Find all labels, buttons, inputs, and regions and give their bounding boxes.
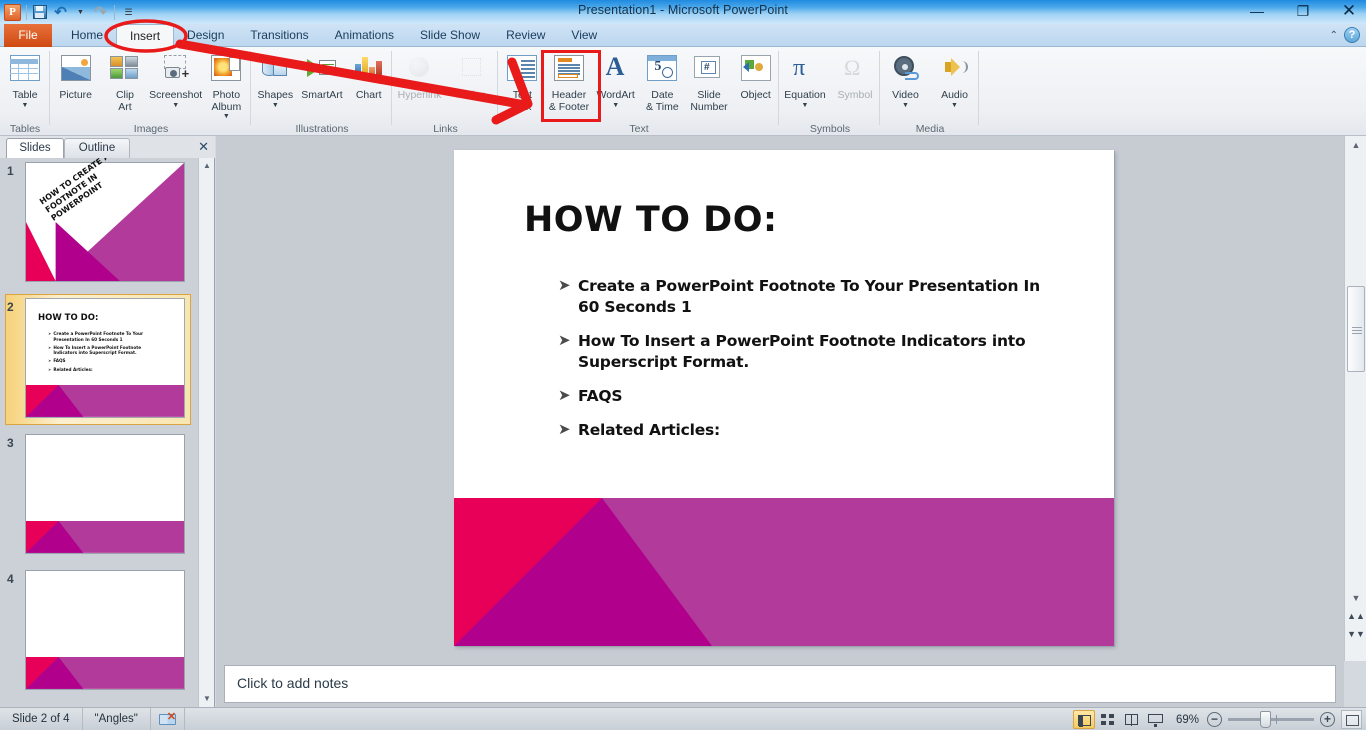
slide-decorative-triangles [454,498,1114,646]
ribbon-button-label: Equation [784,90,825,102]
slide-bullet: ➤FAQS [558,386,1058,407]
symbol-icon: Ω [839,52,871,87]
powerpoint-window: P ↶ ▼ ↷ ☰ Presentation1 - Microsoft Powe… [0,0,1366,730]
tab-design[interactable]: Design [174,24,237,47]
ribbon-group-label: Symbols [780,123,880,135]
ribbon-group-label: Images [51,123,251,135]
zoom-100-tick [1276,715,1277,724]
slide-thumbnail-1[interactable]: 1HOW TO CREATE A FOOTNOTE IN POWERPOINT [0,158,198,294]
ribbon-group-separator [497,51,498,125]
help-icon[interactable]: ? [1344,27,1360,43]
chevron-down-icon[interactable]: ▼ [802,102,809,110]
tab-animations[interactable]: Animations [322,24,407,47]
collapse-ribbon-icon[interactable]: ⌃ [1330,30,1338,41]
slide-title[interactable]: HOW TO DO: [524,200,777,240]
ribbon-group-links: HyperlinkActionLinks [393,47,498,136]
chevron-down-icon[interactable]: ▼ [172,102,179,110]
ribbon-button-label: Shapes [258,90,294,102]
thumbnail-number: 4 [7,572,14,586]
video-icon [890,52,922,87]
previous-slide-button[interactable]: ▲▲ [1345,607,1366,625]
ribbon-group-label: Media [881,123,979,135]
zoom-in-button[interactable]: + [1320,712,1335,727]
chevron-down-icon[interactable]: ▼ [612,102,619,110]
ribbon-button-label: SmartArt [301,90,342,102]
ribbon-group-symbols: πEquation▼ΩSymbolSymbols [780,47,880,136]
zoom-track[interactable] [1228,718,1314,721]
ribbon-button-audio[interactable]: Audio▼ [930,49,979,110]
ribbon-button-label: Chart [356,90,382,102]
tab-outline[interactable]: Outline [64,138,130,158]
next-slide-button[interactable]: ▼▼ [1345,625,1366,643]
ribbon-button-hyperlink: Hyperlink [394,49,446,102]
ribbon-button-chart[interactable]: Chart [345,49,392,102]
thumbnail-title-text: HOW TO DO: [38,313,98,323]
pane-tab-strip: Slides Outline ✕ [0,136,215,158]
slide-bullet-text: How To Insert a PowerPoint Footnote Indi… [578,331,1058,373]
scrollbar-thumb[interactable] [1347,286,1365,372]
bullet-arrow-icon: ➤ [558,386,578,407]
close-button[interactable]: ✕ [1336,2,1362,20]
ribbon-group-label: Illustrations [252,123,392,135]
ribbon-button-label: Symbol [837,90,872,102]
zoom-slider[interactable]: − + [1207,712,1341,727]
tab-slides[interactable]: Slides [6,138,64,158]
restore-button[interactable]: ❐ [1290,2,1316,20]
ribbon-button-label: Video [892,90,919,102]
ribbon-button-photo-album[interactable]: Photo Album▼ [202,49,251,121]
tab-view[interactable]: View [558,24,610,47]
ribbon-button-label: WordArt [597,90,635,102]
scroll-down-icon[interactable]: ▼ [1345,589,1366,607]
thumbnail-art [26,657,184,689]
ribbon-group-separator [879,51,880,125]
slide-show-view-button[interactable] [1145,710,1167,729]
ribbon-button-label: Photo Album [211,90,241,113]
ribbon-button-label: Action [457,90,486,102]
slide-bullet-text: FAQS [578,386,622,407]
ribbon-button-text-box[interactable]: AText Box [499,49,546,113]
slide-work-area: HOW TO DO: ➤Create a PowerPoint Footnote… [216,136,1344,661]
shapes-icon [259,52,291,87]
date-time-icon: 5 [646,52,678,87]
tab-review[interactable]: Review [493,24,558,47]
slide-bullet: ➤Create a PowerPoint Footnote To Your Pr… [558,276,1058,318]
tab-slide-show[interactable]: Slide Show [407,24,493,47]
ribbon-group-separator [49,51,50,125]
slide-canvas[interactable]: HOW TO DO: ➤Create a PowerPoint Footnote… [454,150,1114,646]
chevron-down-icon[interactable]: ▼ [902,102,909,110]
ribbon-group-separator [250,51,251,125]
thumbnail-number: 2 [7,300,14,314]
slide-thumbnail-4[interactable]: 4 [0,566,198,702]
theme-name[interactable]: "Angles" [83,708,151,730]
chevron-down-icon[interactable]: ▼ [22,102,29,110]
ribbon-tab-strip: File HomeInsertDesignTransitionsAnimatio… [0,24,1366,47]
ribbon-button-smartart[interactable]: SmartArt [299,49,346,102]
screenshot-icon: + [160,52,192,87]
ribbon-button-label: Object [741,90,771,102]
thumbnail-slide-preview [25,434,185,554]
audio-icon [939,52,971,87]
slide-bullet: ➤How To Insert a PowerPoint Footnote Ind… [558,331,1058,373]
slide-thumbnail-list[interactable]: 1HOW TO CREATE A FOOTNOTE IN POWERPOINT2… [0,158,198,707]
photo-album-icon [210,52,242,87]
ribbon-help-controls: ⌃ ? [1330,27,1360,43]
tab-transitions[interactable]: Transitions [237,24,321,47]
ribbon-group-text: AText BoxHeader & FooterAWordArt▼5Date &… [499,47,779,136]
action-icon [456,52,488,87]
slide-bullet-text: Create a PowerPoint Footnote To Your Pre… [578,276,1058,318]
zoom-level-label[interactable]: 69% [1168,714,1207,726]
ribbon-button-label: Hyperlink [398,90,442,102]
slide-bullet: ➤Related Articles: [558,420,1058,441]
zoom-out-button[interactable]: − [1207,712,1222,727]
thumbnail-slide-preview: HOW TO DO:➤Create a PowerPoint Footnote … [25,298,185,418]
header-footer-icon [553,52,585,87]
ribbon-button-screenshot[interactable]: +Screenshot▼ [150,49,202,110]
ribbon-group-label: Text [499,123,779,135]
spellcheck-icon[interactable]: ✕ [151,708,185,730]
ribbon-group-label: Tables [0,123,50,135]
chevron-down-icon[interactable]: ▼ [951,102,958,110]
ribbon-group-media: Video▼Audio▼Media [881,47,979,136]
ribbon-button-clip-art[interactable]: Clip Art [100,49,149,113]
ribbon-button-picture[interactable]: Picture [51,49,100,102]
ribbon-button-wordart[interactable]: AWordArt▼ [592,49,639,110]
slide-thumbnail-3[interactable]: 3 [0,430,198,566]
thumbnail-scroll-up-icon[interactable]: ▲ [199,158,215,174]
ribbon-group-illustrations: Shapes▼SmartArtChartIllustrations [252,47,392,136]
ribbon-button-symbol: ΩSymbol [830,49,880,102]
normal-view-button[interactable] [1073,710,1095,729]
ribbon-group-separator [978,51,979,125]
bullet-arrow-icon: ➤ [558,331,578,373]
thumbnail-slide-preview: HOW TO CREATE A FOOTNOTE IN POWERPOINT [25,162,185,282]
ribbon-group-separator [778,51,779,125]
chevron-down-icon[interactable]: ▼ [223,113,230,121]
ribbon-group-separator [391,51,392,125]
ribbon-button-object[interactable]: Object [732,49,779,102]
window-controls: — ❐ ✕ [1244,2,1362,20]
ribbon-button-equation[interactable]: πEquation▼ [780,49,830,110]
tab-insert[interactable]: Insert [116,24,174,47]
ribbon-button-label: Slide Number [690,90,727,113]
ribbon-button-label: Picture [59,90,92,102]
status-bar: Slide 2 of 4 "Angles" ✕ 69% − + [0,707,1366,730]
minimize-button[interactable]: — [1244,2,1270,20]
slide-thumbnail-2[interactable]: 2HOW TO DO:➤Create a PowerPoint Footnote… [0,294,198,430]
notes-placeholder[interactable]: Click to add notes [224,665,1336,703]
ribbon-button-table[interactable]: Table▼ [0,49,50,110]
slide-sorter-view-button[interactable] [1097,710,1119,729]
slide-bullet-text: Related Articles: [578,420,720,441]
ribbon-button-date-time[interactable]: 5Date & Time [639,49,686,113]
tab-file[interactable]: File [4,24,52,47]
ribbon-button-label: Screenshot [149,90,202,102]
text-box-icon: A [506,52,538,87]
close-pane-icon[interactable]: ✕ [198,139,209,155]
clip-art-icon [109,52,141,87]
ribbon-button-label: Text Box [513,90,532,113]
thumbnail-art [26,385,184,417]
thumbnail-slide-preview [25,570,185,690]
scrollbar-grip-icon [1352,327,1362,328]
notes-pane: Click to add notes [216,661,1344,707]
slide-number-icon: # [693,52,725,87]
title-bar: P ↶ ▼ ↷ ☰ Presentation1 - Microsoft Powe… [0,0,1366,24]
ribbon-button-label: Audio [941,90,968,102]
thumbnail-number: 3 [7,436,14,450]
ribbon-button-label: Date & Time [646,90,679,113]
wordart-icon: A [600,52,632,87]
bullet-arrow-icon: ➤ [558,276,578,318]
status-bar-right: 69% − + [1072,708,1366,730]
slides-outline-pane: Slides Outline ✕ 1HOW TO CREATE A FOOTNO… [0,136,215,707]
thumbnail-art [26,521,184,553]
fit-slide-to-window-button[interactable] [1341,710,1362,729]
slide-body-placeholder[interactable]: ➤Create a PowerPoint Footnote To Your Pr… [558,276,1058,454]
table-icon [9,52,41,87]
ribbon-tabs: HomeInsertDesignTransitionsAnimationsSli… [58,24,610,47]
thumbnail-scrollbar[interactable]: ▲ ▼ [198,158,214,707]
ribbon-button-label: Table [12,90,37,102]
picture-icon [60,52,92,87]
ribbon-group-label: Links [393,123,498,135]
bullet-arrow-icon: ➤ [558,420,578,441]
hyperlink-icon [404,52,436,87]
thumbnail-bullets: ➤Create a PowerPoint Footnote To Your Pr… [48,331,166,375]
chevron-down-icon[interactable]: ▼ [272,102,279,110]
reading-view-button[interactable] [1121,710,1143,729]
slide-vertical-scrollbar[interactable]: ▲ ▼ ▲▲ ▼▼ [1344,136,1366,661]
scroll-up-icon[interactable]: ▲ [1345,136,1366,154]
smartart-icon [306,52,338,87]
ribbon: Table▼TablesPictureClip Art+Screenshot▼P… [0,47,1366,136]
ribbon-button-video[interactable]: Video▼ [881,49,930,110]
thumbnail-number: 1 [7,164,14,178]
ribbon-group-images: PictureClip Art+Screenshot▼Photo Album▼I… [51,47,251,136]
zoom-handle[interactable] [1260,711,1271,728]
thumbnail-scroll-down-icon[interactable]: ▼ [199,691,215,707]
ribbon-button-label: Header & Footer [549,90,589,113]
equation-icon: π [789,52,821,87]
window-title: Presentation1 - Microsoft PowerPoint [0,3,1366,17]
ribbon-button-header-footer[interactable]: Header & Footer [546,49,593,113]
slide-counter[interactable]: Slide 2 of 4 [0,708,83,730]
tab-home[interactable]: Home [58,24,116,47]
object-icon [740,52,772,87]
ribbon-group-tables: Table▼Tables [0,47,50,136]
ribbon-button-slide-number[interactable]: #Slide Number [686,49,733,113]
ribbon-button-label: Clip Art [116,90,134,113]
ribbon-button-action: Action [446,49,498,102]
ribbon-button-shapes[interactable]: Shapes▼ [252,49,299,110]
chart-icon [353,52,385,87]
